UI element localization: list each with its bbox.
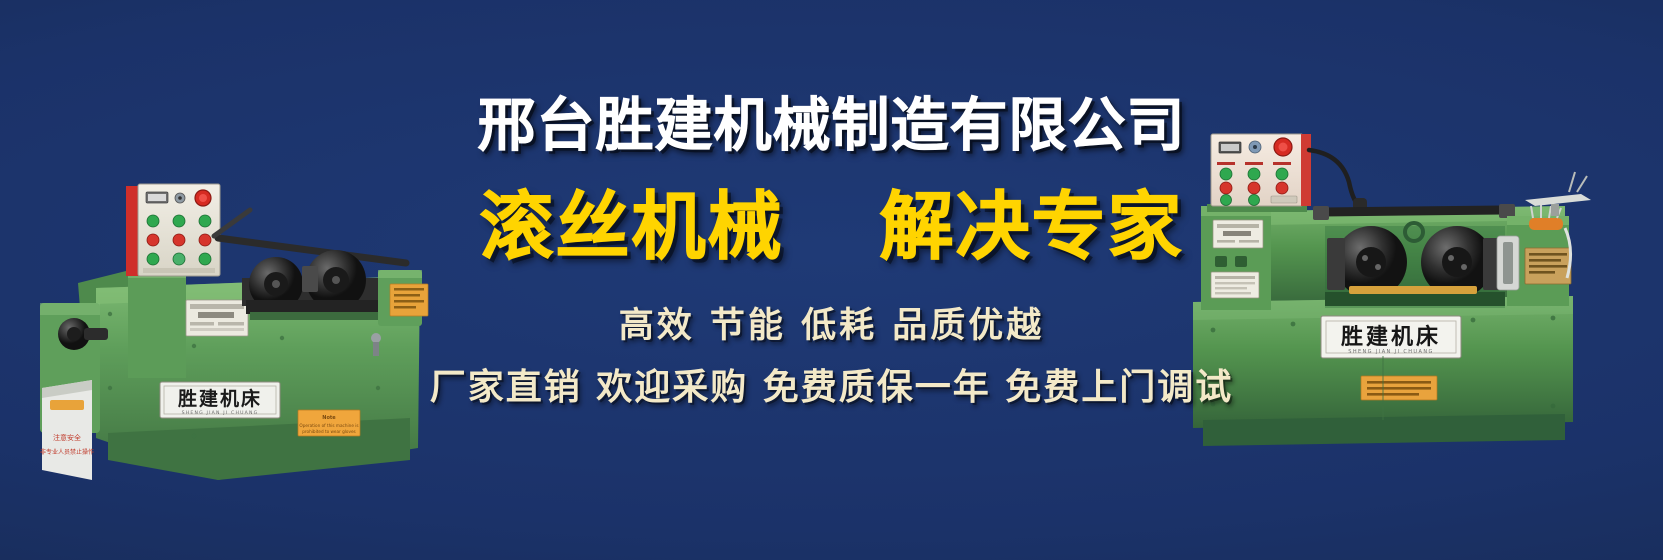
machine-left-top-shaft xyxy=(218,238,406,263)
svg-text:prohibited to wear gloves: prohibited to wear gloves xyxy=(302,429,355,434)
machine-left-nameplate: 胜建机床 SHENG JIAN JI CHUANG xyxy=(160,382,280,418)
headline-row: 滚丝机械 解决专家 xyxy=(480,190,1184,264)
machine-right-nameplate: 胜建机床 SHENG JIAN JI CHUANG xyxy=(1321,316,1461,358)
machine-right-roller-heads xyxy=(1325,223,1505,308)
subheading-line-2: 厂家直销 欢迎采购 免费质保一年 免费上门调试 xyxy=(430,369,1234,405)
machine-left-control-panel xyxy=(126,184,220,276)
headline-right: 解决专家 xyxy=(880,190,1184,264)
machine-right-control-panel xyxy=(1207,134,1311,212)
svg-text:非专业人员禁止操作: 非专业人员禁止操作 xyxy=(40,448,94,456)
svg-text:Operation of this machine is: Operation of this machine is xyxy=(299,423,358,428)
machine-right-cable xyxy=(1309,150,1361,208)
svg-text:注意安全: 注意安全 xyxy=(53,433,81,442)
headline-left: 滚丝机械 xyxy=(480,190,784,264)
subheading-line-1: 高效 节能 低耗 品质优越 xyxy=(619,308,1045,343)
banner-text-stack: 邢台胜建机械制造有限公司 滚丝机械 解决专家 高效 节能 低耗 品质优越 厂家直… xyxy=(382,0,1282,560)
machine-image-left: 注意安全 非专业人员禁止操作 xyxy=(18,88,448,488)
svg-text:胜建机床: 胜建机床 xyxy=(178,387,262,410)
machine-left-warning-label: Note Operation of this machine is prohib… xyxy=(298,410,360,436)
machine-right-left-upright xyxy=(1201,206,1271,310)
machine-right-top-shaft xyxy=(1323,210,1503,212)
machine-image-right: 胜建机床 SHENG JIAN JI CHUANG xyxy=(1173,120,1653,460)
machine-left-spec-plate xyxy=(186,300,248,336)
svg-text:胜建机床: 胜建机床 xyxy=(1341,324,1441,350)
machine-right-warning-label xyxy=(1361,376,1437,400)
machine-left-electrical-cabinet: 注意安全 非专业人员禁止操作 xyxy=(40,380,94,480)
svg-text:SHENG JIAN JI CHUANG: SHENG JIAN JI CHUANG xyxy=(1348,349,1433,355)
svg-text:SHENG JIAN JI CHUANG: SHENG JIAN JI CHUANG xyxy=(182,410,259,416)
machine-right-end-assembly xyxy=(1497,172,1591,306)
machine-left-column xyxy=(128,268,186,378)
svg-text:Note: Note xyxy=(322,415,336,421)
promotional-banner: 注意安全 非专业人员禁止操作 xyxy=(0,0,1663,560)
page-title: 邢台胜建机械制造有限公司 xyxy=(477,96,1185,154)
